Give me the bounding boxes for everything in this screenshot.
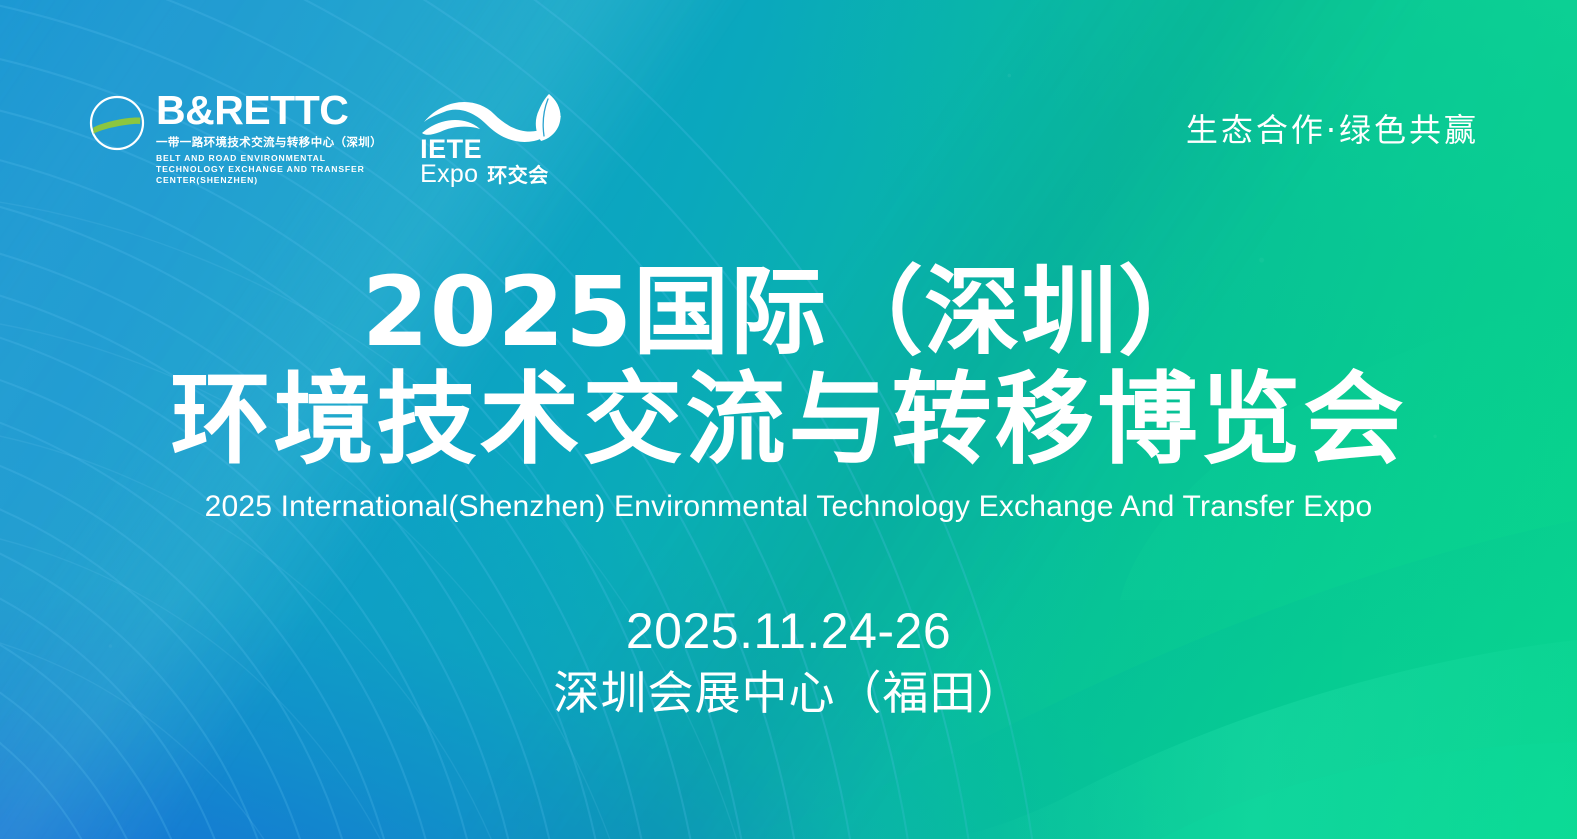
expo-wordmark: Expo xyxy=(420,162,478,187)
subtitle-english: 2025 International(Shenzhen) Environment… xyxy=(0,490,1577,524)
banner-content: B&RETTC 一带一路环境技术交流与转移中心（深圳） BELT AND ROA… xyxy=(0,0,1577,839)
event-venue: 深圳会展中心（福田） xyxy=(0,665,1577,721)
brettc-wordmark: B&RETTC xyxy=(156,90,382,131)
globe-icon xyxy=(88,94,146,152)
iete-expo-logo: IETE Expo 环交会 xyxy=(418,92,570,192)
iete-wordmark: IETE xyxy=(420,136,482,163)
event-banner: B&RETTC 一带一路环境技术交流与转移中心（深圳） BELT AND ROA… xyxy=(0,0,1577,839)
headline-block: 2025国际（深圳） 环境技术交流与转移博览会 2025 Internation… xyxy=(0,262,1577,524)
brettc-english-name: BELT AND ROAD ENVIRONMENTAL TECHNOLOGY E… xyxy=(156,153,372,187)
title-line-2: 环境技术交流与转移博览会 xyxy=(0,366,1577,474)
brettc-text-block: B&RETTC 一带一路环境技术交流与转移中心（深圳） BELT AND ROA… xyxy=(156,90,382,187)
iete-chinese-short: 环交会 xyxy=(487,165,549,185)
slogan-text: 生态合作·绿色共赢 xyxy=(1186,105,1479,151)
title-line-1: 2025国际（深圳） xyxy=(0,262,1577,364)
iete-expo-row: Expo 环交会 xyxy=(420,162,549,187)
brettc-chinese-name: 一带一路环境技术交流与转移中心（深圳） xyxy=(156,136,382,150)
logo-row: B&RETTC 一带一路环境技术交流与转移中心（深圳） BELT AND ROA… xyxy=(88,90,570,192)
event-info-block: 2025.11.24-26 深圳会展中心（福田） xyxy=(0,602,1577,721)
brettc-logo: B&RETTC 一带一路环境技术交流与转移中心（深圳） BELT AND ROA… xyxy=(88,90,382,187)
event-date: 2025.11.24-26 xyxy=(0,602,1577,661)
